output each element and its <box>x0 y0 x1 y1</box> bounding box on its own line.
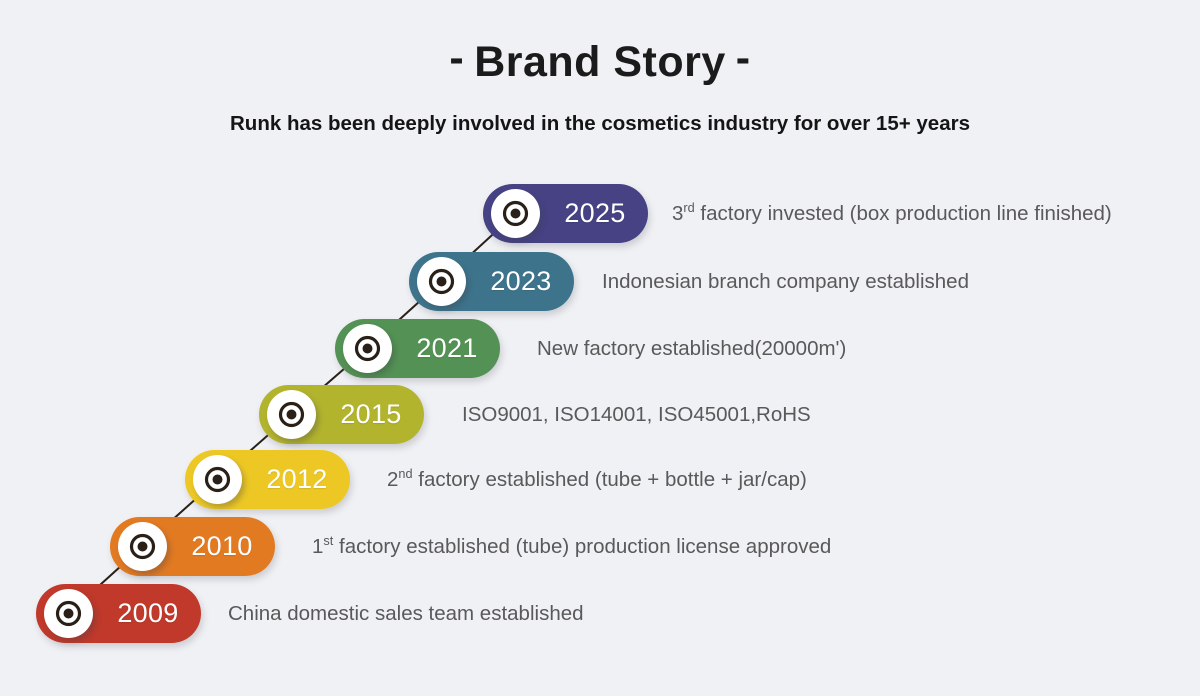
target-dot-icon <box>128 532 157 561</box>
timeline-description: 1st factory established (tube) productio… <box>312 517 831 576</box>
description-text: factory established (tube) production li… <box>333 535 831 558</box>
description-text: ISO9001, ISO14001, ISO45001,RoHS <box>462 403 811 426</box>
description-text: Indonesian branch company established <box>602 270 969 293</box>
target-dot-icon <box>203 465 232 494</box>
target-dot-icon <box>54 599 83 628</box>
timeline-year-label: 2025 <box>545 184 645 243</box>
description-text: factory invested (box production line fi… <box>695 202 1112 225</box>
description-ordinal-number: 2 <box>387 468 398 491</box>
description-ordinal-suffix: rd <box>683 200 694 215</box>
timeline: 20253rd factory invested (box production… <box>0 0 1200 696</box>
timeline-description: 3rd factory invested (box production lin… <box>672 184 1112 243</box>
target-dot-icon <box>427 267 456 296</box>
brand-story-infographic: -Brand Story- Runk has been deeply invol… <box>0 0 1200 696</box>
timeline-year-label: 2009 <box>98 584 198 643</box>
description-text: factory established (tube + bottle + jar… <box>413 468 807 491</box>
description-ordinal-suffix: nd <box>398 466 412 481</box>
timeline-year-label: 2021 <box>397 319 497 378</box>
timeline-description: Indonesian branch company established <box>602 252 969 311</box>
timeline-description: New factory established(20000m') <box>537 319 846 378</box>
timeline-year-label: 2015 <box>321 385 421 444</box>
description-text: New factory established(20000m') <box>537 337 846 360</box>
timeline-description: 2nd factory established (tube + bottle +… <box>387 450 807 509</box>
timeline-year-label: 2023 <box>471 252 571 311</box>
target-dot-icon <box>277 400 306 429</box>
timeline-description: ISO9001, ISO14001, ISO45001,RoHS <box>462 385 811 444</box>
target-dot-icon <box>501 199 530 228</box>
timeline-year-label: 2010 <box>172 517 272 576</box>
timeline-year-label: 2012 <box>247 450 347 509</box>
description-ordinal-suffix: st <box>323 533 333 548</box>
description-ordinal-number: 1 <box>312 535 323 558</box>
description-text: China domestic sales team established <box>228 602 584 625</box>
description-ordinal-number: 3 <box>672 202 683 225</box>
timeline-description: China domestic sales team established <box>228 584 584 643</box>
target-dot-icon <box>353 334 382 363</box>
